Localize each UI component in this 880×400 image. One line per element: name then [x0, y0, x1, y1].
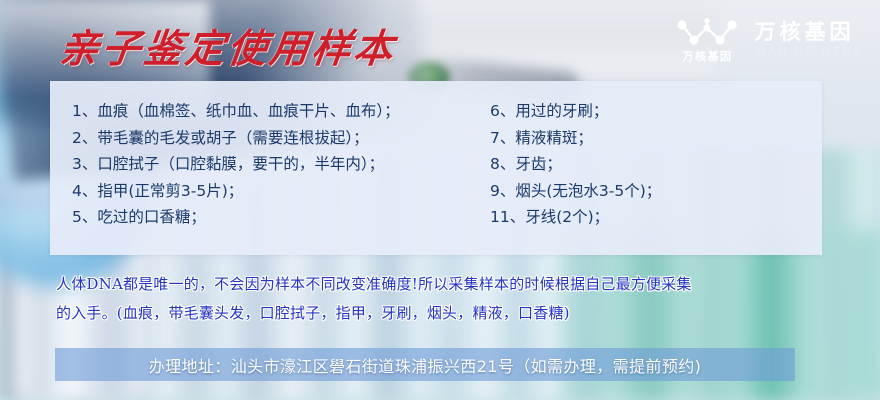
list-item: 9、烟头(无泡水3-5个)；	[490, 178, 822, 205]
note-line-2: 的入手。(血痕，带毛囊头发，口腔拭子，指甲，牙刷，烟头，精液，口香糖)	[56, 299, 846, 328]
logo-wordmark-cn: 万核基因	[754, 21, 864, 45]
sample-list-right-column: 6、用过的牙刷； 7、精液精斑； 8、牙齿； 9、烟头(无泡水3-5个)； 11…	[468, 81, 822, 255]
logo-mark-caption: 万核基因	[682, 52, 732, 63]
list-item: 7、精液精斑；	[490, 125, 822, 152]
page-title: 亲子鉴定使用样本	[57, 18, 400, 74]
logo-mark: 万核基因	[674, 17, 740, 63]
list-item: 4、指甲(正常剪3-5片)；	[72, 178, 468, 205]
list-item: 11、牙线(2个)；	[490, 204, 822, 231]
sample-list-left-column: 1、血痕（血棉签、纸巾血、血痕干片、血布）； 2、带毛囊的毛发或胡子（需要连根拔…	[50, 81, 468, 255]
list-item: 6、用过的牙刷；	[490, 98, 822, 125]
list-item: 3、口腔拭子（口腔黏膜，要干的，半年内）；	[72, 151, 468, 178]
sample-list-panel: 1、血痕（血棉签、纸巾血、血痕干片、血布）； 2、带毛囊的毛发或胡子（需要连根拔…	[50, 81, 822, 255]
molecule-icon	[674, 17, 740, 49]
list-item: 1、血痕（血棉签、纸巾血、血痕干片、血布）；	[72, 98, 468, 125]
list-item: 2、带毛囊的毛发或胡子（需要连根拔起）；	[72, 125, 468, 152]
address-text: 办理地址：汕头市濠江区礐石街道珠浦振兴西21号（如需办理，需提前预约)	[149, 353, 702, 377]
brand-logo: 万核基因 万核基因 WAN HE GENE	[674, 14, 864, 66]
logo-wordmark-en: WAN HE GENE	[754, 45, 864, 58]
note-line-1: 人体DNA都是唯一的，不会因为样本不同改变准确度!所以采集样本的时候根据自己最方…	[56, 270, 846, 299]
poster-canvas: 万核基因 万核基因 WAN HE GENE 亲子鉴定使用样本 1、血痕（血棉签、…	[0, 0, 880, 400]
note-paragraph: 人体DNA都是唯一的，不会因为样本不同改变准确度!所以采集样本的时候根据自己最方…	[56, 270, 846, 328]
address-bar: 办理地址：汕头市濠江区礐石街道珠浦振兴西21号（如需办理，需提前预约)	[55, 348, 795, 381]
list-item: 8、牙齿；	[490, 151, 822, 178]
logo-wordmark: 万核基因 WAN HE GENE	[754, 21, 864, 58]
list-item: 5、吃过的口香糖；	[72, 204, 468, 231]
